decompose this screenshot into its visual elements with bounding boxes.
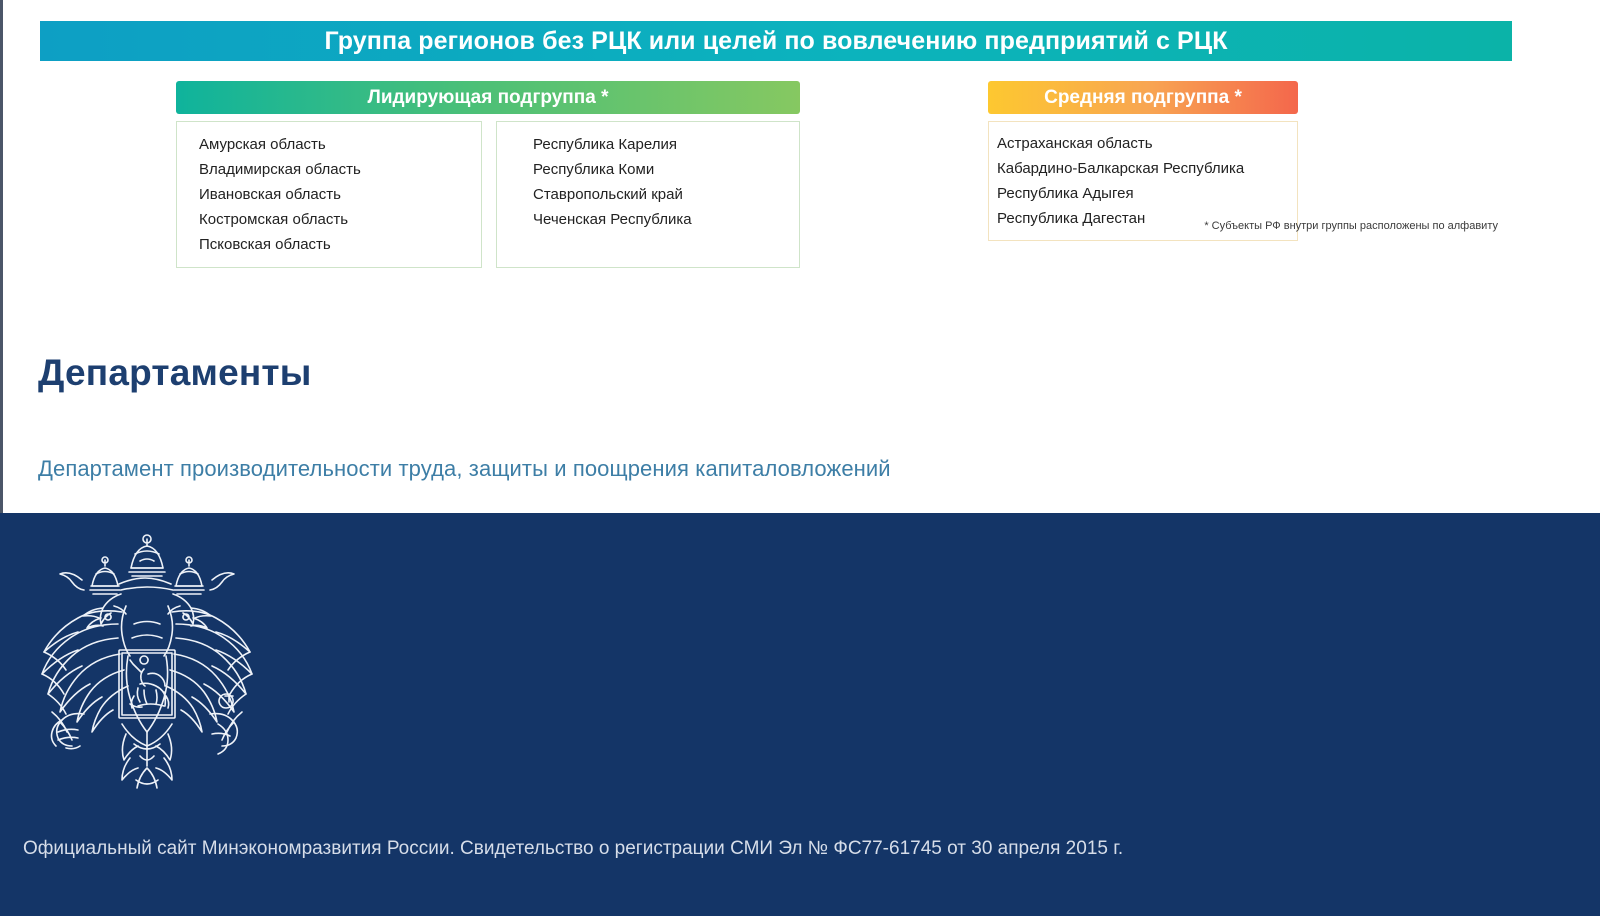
- region-item: Псковская область: [199, 232, 467, 257]
- region-item: Костромская область: [199, 207, 467, 232]
- region-item: Ивановская область: [199, 182, 467, 207]
- department-link[interactable]: Департамент производительности труда, за…: [38, 456, 1438, 482]
- subgroup-leading: Лидирующая подгруппа * Амурская область …: [176, 81, 800, 268]
- subgroup-middle: Средняя подгруппа * Астраханская область…: [988, 81, 1298, 241]
- region-item: Кабардино-Балкарская Республика: [997, 156, 1283, 181]
- region-item: Владимирская область: [199, 157, 467, 182]
- departments-section: Департаменты Департамент производительно…: [38, 352, 1438, 482]
- region-item: Астраханская область: [997, 131, 1283, 156]
- region-item: Амурская область: [199, 132, 467, 157]
- subgroup-middle-title: Средняя подгруппа *: [1044, 87, 1242, 109]
- page-title: Департаменты: [38, 352, 1438, 394]
- regions-infographic: Группа регионов без РЦК или целей по вов…: [0, 0, 1600, 300]
- region-item: Республика Коми: [533, 157, 785, 182]
- region-item: Ставропольский край: [533, 182, 785, 207]
- region-list-box: Амурская область Владимирская область Ив…: [176, 121, 482, 268]
- infographic-footnote: * Субъекты РФ внутри группы расположены …: [988, 220, 1498, 232]
- russian-coat-of-arms-icon: [22, 528, 272, 798]
- group-banner-title: Группа регионов без РЦК или целей по вов…: [324, 27, 1227, 56]
- region-item: Республика Адыгея: [997, 181, 1283, 206]
- region-list-box: Республика Карелия Республика Коми Ставр…: [496, 121, 800, 268]
- region-item: Республика Карелия: [533, 132, 785, 157]
- subgroup-leading-title: Лидирующая подгруппа *: [367, 87, 608, 109]
- region-item: Чеченская Республика: [533, 207, 785, 232]
- subgroup-leading-columns: Амурская область Владимирская область Ив…: [176, 121, 800, 268]
- footer-legal-text: Официальный сайт Минэкономразвития Росси…: [23, 838, 1123, 860]
- page-root: Группа регионов без РЦК или целей по вов…: [0, 0, 1600, 916]
- subgroup-middle-header: Средняя подгруппа *: [988, 81, 1298, 114]
- site-footer: Официальный сайт Минэкономразвития Росси…: [0, 513, 1600, 916]
- group-banner: Группа регионов без РЦК или целей по вов…: [40, 21, 1512, 61]
- subgroup-leading-header: Лидирующая подгруппа *: [176, 81, 800, 114]
